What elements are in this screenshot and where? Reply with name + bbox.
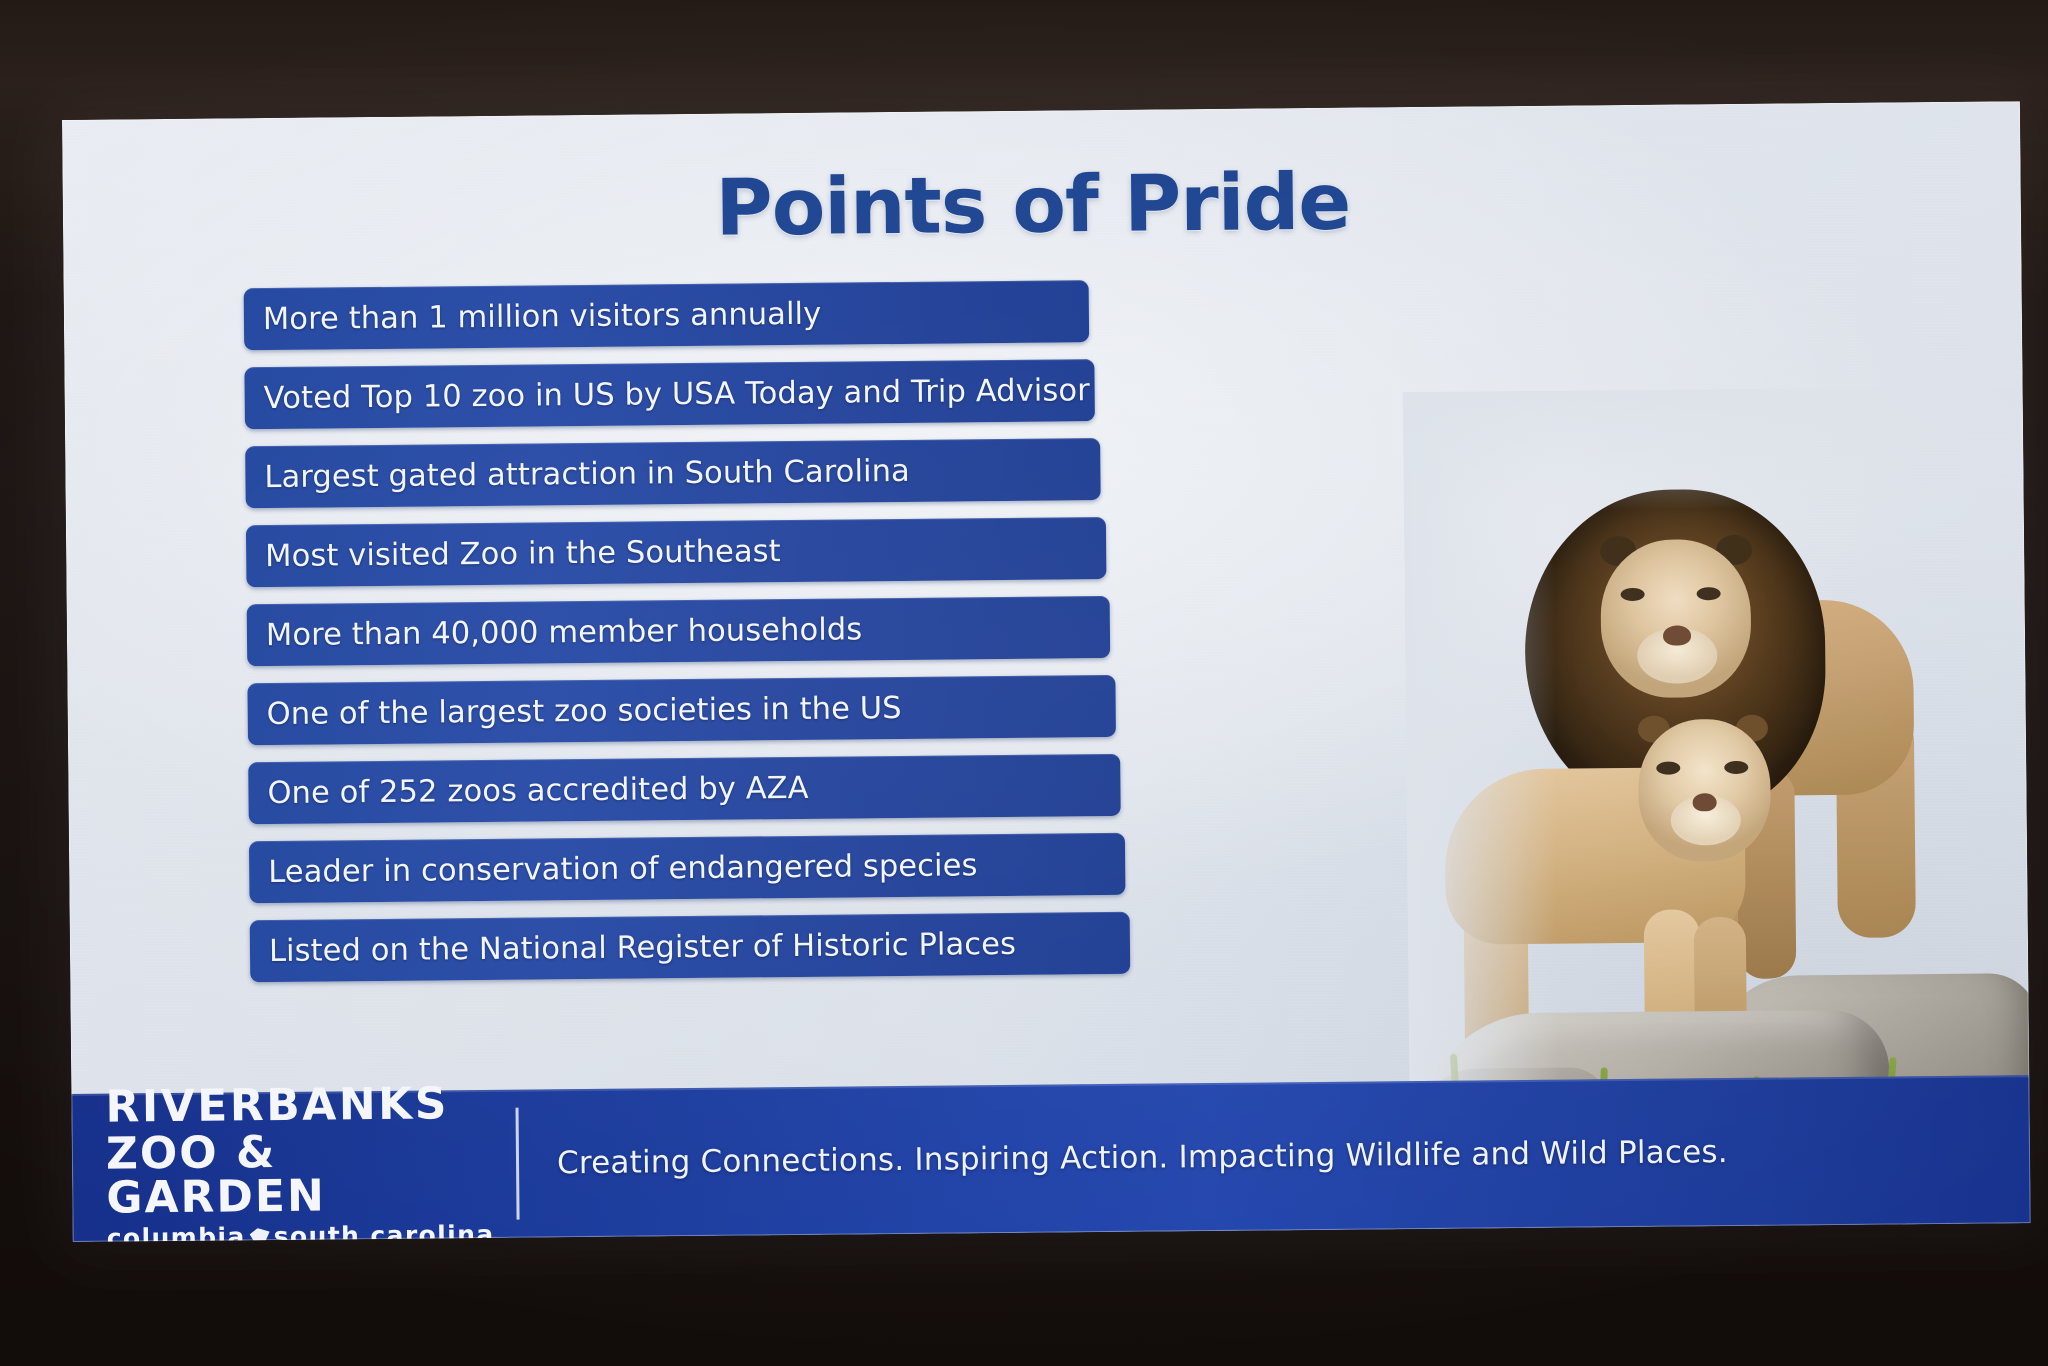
list-item[interactable]: Voted Top 10 zoo in US by USA Today and … bbox=[244, 359, 1095, 429]
page-title: Points of Pride bbox=[622, 157, 1443, 255]
logo-line-location: columbia south carolina bbox=[107, 1221, 507, 1242]
list-item-label: Leader in conservation of endangered spe… bbox=[249, 848, 978, 890]
list-item[interactable]: Most visited Zoo in the Southeast bbox=[246, 517, 1107, 587]
list-item-label: More than 40,000 member households bbox=[247, 612, 863, 653]
presentation-slide: Points of Pride bbox=[62, 101, 2031, 1242]
footer-tagline: Creating Connections. Inspiring Action. … bbox=[557, 1134, 1728, 1181]
projected-slide-photo: Points of Pride bbox=[0, 0, 2048, 1366]
lioness-nose bbox=[1693, 793, 1717, 811]
points-of-pride-list: More than 1 million visitors annually Vo… bbox=[244, 280, 1151, 1000]
riverbanks-logo: RIVERBANKS ZOO & GARDEN columbia south c… bbox=[71, 1081, 507, 1242]
list-item-label: One of 252 zoos accredited by AZA bbox=[248, 770, 809, 810]
footer-divider bbox=[516, 1108, 520, 1220]
slide-footer: RIVERBANKS ZOO & GARDEN columbia south c… bbox=[71, 1075, 2030, 1242]
list-item[interactable]: One of 252 zoos accredited by AZA bbox=[248, 754, 1121, 824]
list-item-label: Most visited Zoo in the Southeast bbox=[246, 534, 781, 574]
logo-city: columbia bbox=[107, 1224, 246, 1242]
male-lion-nose bbox=[1663, 625, 1691, 645]
list-item[interactable]: Largest gated attraction in South Caroli… bbox=[245, 438, 1101, 508]
list-item-label: Listed on the National Register of Histo… bbox=[250, 926, 1016, 968]
list-item-label: More than 1 million visitors annually bbox=[244, 296, 822, 337]
list-item-label: Voted Top 10 zoo in US by USA Today and … bbox=[245, 373, 1090, 416]
south-carolina-state-icon bbox=[250, 1228, 270, 1242]
list-item[interactable]: Leader in conservation of endangered spe… bbox=[249, 833, 1126, 903]
list-item[interactable]: Listed on the National Register of Histo… bbox=[250, 912, 1131, 982]
logo-line-zoo-and-garden: ZOO & GARDEN bbox=[106, 1128, 507, 1220]
list-item[interactable]: One of the largest zoo societies in the … bbox=[247, 675, 1116, 745]
logo-line-riverbanks: RIVERBANKS bbox=[105, 1081, 505, 1129]
list-item-label: One of the largest zoo societies in the … bbox=[248, 690, 902, 731]
list-item[interactable]: More than 1 million visitors annually bbox=[244, 280, 1090, 350]
list-item-label: Largest gated attraction in South Caroli… bbox=[245, 453, 910, 494]
list-item[interactable]: More than 40,000 member households bbox=[247, 596, 1111, 666]
logo-state: south carolina bbox=[274, 1221, 495, 1242]
